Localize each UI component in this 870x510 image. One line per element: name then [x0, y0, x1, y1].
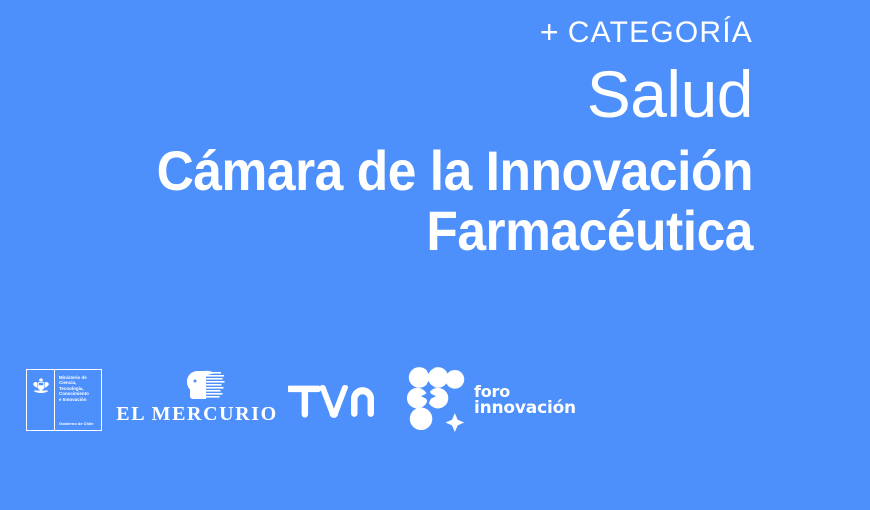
- foro-word-bottom: innovación: [474, 400, 576, 417]
- plus-icon: +: [540, 12, 560, 52]
- headline-block: +CATEGORÍA Salud Cámara de la Innovación…: [0, 0, 753, 261]
- tvn-wordmark-icon: [288, 381, 374, 419]
- award-category-slide: +CATEGORÍA Salud Cámara de la Innovación…: [0, 0, 870, 510]
- ministerio-name-line-5: e Innovación: [59, 397, 98, 402]
- logo-tvn: [288, 377, 374, 423]
- category-kicker-label: CATEGORÍA: [568, 16, 753, 49]
- category-name: Salud: [0, 53, 753, 133]
- circle-cluster-star-icon: [406, 366, 468, 434]
- logo-foro-innovacion: foro innovación: [406, 365, 558, 435]
- logo-el-mercurio: EL MERCURIO: [130, 370, 264, 430]
- mercury-head-icon: [183, 370, 225, 401]
- ministerio-text-panel: Ministerio de Ciencia, Tecnología, Conoc…: [55, 370, 101, 430]
- foro-innovacion-wordmark: foro innovación: [474, 383, 576, 417]
- entity-title-line-1: Cámara de la Innovación: [60, 141, 753, 201]
- sponsor-logo-row: Ministerio de Ciencia, Tecnología, Conoc…: [26, 355, 846, 445]
- entity-title-line-2: Farmacéutica: [60, 201, 753, 261]
- ministerio-crest-panel: [27, 370, 55, 430]
- ministerio-government-label: Gobierno de Chile: [59, 421, 93, 426]
- entity-title: Cámara de la Innovación Farmacéutica: [60, 133, 753, 261]
- chile-coat-of-arms-icon: [32, 378, 50, 394]
- el-mercurio-wordmark: EL MERCURIO: [116, 403, 278, 425]
- logo-ministerio-ciencia: Ministerio de Ciencia, Tecnología, Conoc…: [26, 369, 102, 431]
- category-kicker: +CATEGORÍA: [0, 0, 753, 53]
